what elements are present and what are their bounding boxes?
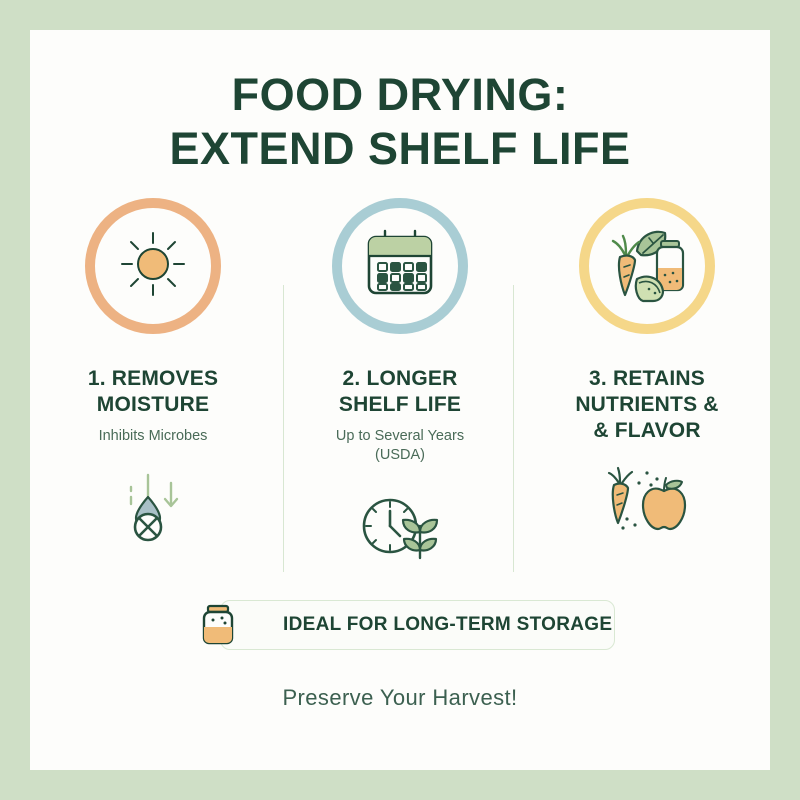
benefit-heading-2-line-1: 2. LONGER	[343, 367, 458, 390]
page-title: FOOD DRYING: EXTEND SHELF LIFE	[30, 68, 770, 176]
benefit-sub-2: Up to Several Years (USDA)	[336, 427, 464, 465]
storage-banner-pill: IDEAL FOR LONG-TERM STORAGE	[220, 600, 615, 650]
benefit-sub-1: Inhibits Microbes	[99, 427, 208, 446]
produce-and-jar-icon	[603, 223, 691, 310]
no-moisture-droplet-icon	[115, 468, 191, 546]
benefit-heading-2-line-2: SHELF LIFE	[339, 393, 461, 416]
benefit-columns: 1. REMOVES MOISTURE Inhibits Microbes	[30, 198, 770, 565]
benefit-heading-1-line-1: 1. REMOVES	[88, 367, 218, 390]
storage-banner: IDEAL FOR LONG-TERM STORAGE	[195, 600, 615, 650]
benefit-ring-3	[579, 198, 715, 334]
benefit-ring-2	[332, 198, 468, 334]
benefit-heading-3-line-3: & FLAVOR	[593, 419, 700, 442]
benefit-heading-3-line-2: NUTRIENTS &	[575, 393, 718, 416]
benefit-heading-1: 1. REMOVES MOISTURE	[88, 366, 218, 418]
calendar-icon	[361, 227, 439, 306]
carrot-and-apple-icon	[601, 460, 693, 538]
title-line-1: FOOD DRYING:	[30, 68, 770, 122]
footer-tagline: Preserve Your Harvest!	[30, 685, 770, 711]
sun-icon	[116, 227, 190, 306]
clock-with-sprout-icon	[357, 487, 443, 565]
storage-jar-icon	[195, 602, 241, 648]
benefit-column-retains-nutrients: 3. RETAINS NUTRIENTS & & FLAVOR	[524, 198, 770, 538]
benefit-heading-2: 2. LONGER SHELF LIFE	[339, 366, 461, 418]
benefit-column-removes-moisture: 1. REMOVES MOISTURE Inhibits Microbes	[30, 198, 276, 546]
benefit-sub-2-line-1: Up to Several Years	[336, 428, 464, 444]
benefit-heading-3: 3. RETAINS NUTRIENTS & & FLAVOR	[575, 366, 718, 444]
benefit-ring-1	[85, 198, 221, 334]
storage-banner-label: IDEAL FOR LONG-TERM STORAGE	[283, 614, 612, 636]
benefit-sub-2-line-2: (USDA)	[375, 447, 425, 463]
infographic-poster: FOOD DRYING: EXTEND SHELF LIFE	[0, 0, 800, 800]
benefit-heading-3-line-1: 3. RETAINS	[589, 367, 705, 390]
benefit-column-longer-shelf-life: 2. LONGER SHELF LIFE Up to Several Years…	[277, 198, 523, 565]
poster-card: FOOD DRYING: EXTEND SHELF LIFE	[30, 30, 770, 770]
benefit-heading-1-line-2: MOISTURE	[97, 393, 209, 416]
title-line-2: EXTEND SHELF LIFE	[30, 122, 770, 176]
